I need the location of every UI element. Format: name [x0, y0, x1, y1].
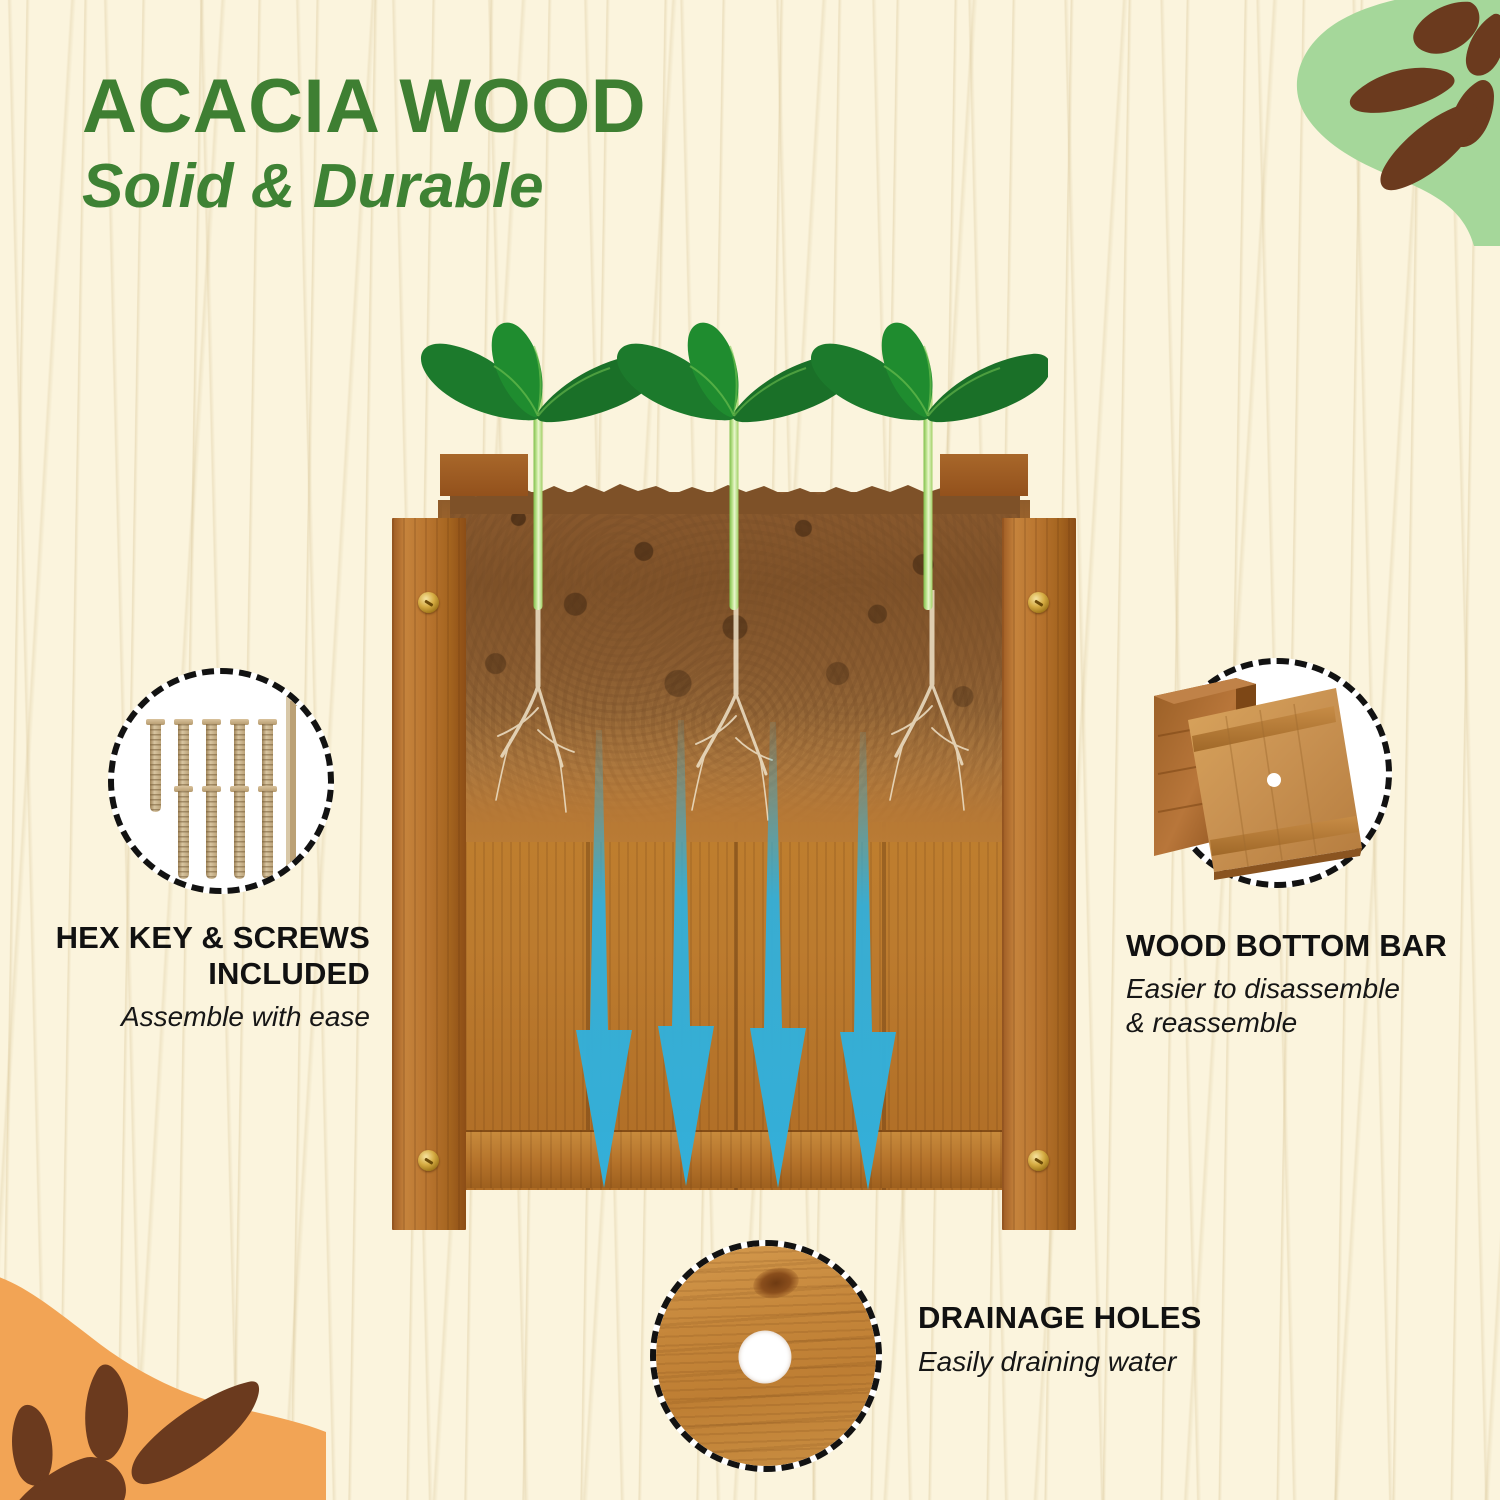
left-corner-post: [392, 518, 466, 1230]
feature-title-hex-key: HEX KEY & SCREWS INCLUDED: [20, 920, 370, 992]
drainage-hole: [738, 1331, 791, 1384]
feature-title-wood-bar: WOOD BOTTOM BAR: [1126, 928, 1486, 964]
feature-title-drainage: DRAINAGE HOLES: [918, 1300, 1338, 1336]
feature-subtitle-drainage: Easily draining water: [918, 1345, 1338, 1379]
page-subtitle: Solid & Durable: [82, 154, 646, 219]
feature-subtitle-hex-key: Assemble with ease: [20, 1000, 370, 1034]
feature-subtitle-wood-bar: Easier to disassemble & reassemble: [1126, 972, 1496, 1039]
drainage-hole-wood-disc-icon: [656, 1246, 876, 1466]
leaf-silhouette-group: [1350, 2, 1500, 190]
leaf-silhouette-group: [12, 1365, 259, 1500]
infographic-canvas: ACACIA WOOD Solid & Durable: [0, 0, 1500, 1500]
wood-panel-graphic: [1130, 660, 1390, 890]
right-corner-post: [1002, 518, 1076, 1230]
seedling-3: [808, 320, 1048, 610]
plant-roots: [450, 590, 1020, 850]
wood-bottom-bar: [450, 1130, 1018, 1188]
screw-left-bottom: [418, 1150, 439, 1171]
screws-and-hex-key-icon: [114, 674, 328, 888]
page-title: ACACIA WOOD: [82, 68, 646, 146]
badge-drainage-holes: [650, 1240, 882, 1472]
green-leaf-corner-decoration: [1174, 0, 1500, 246]
headline-block: ACACIA WOOD Solid & Durable: [82, 68, 646, 219]
orange-leaf-corner-decoration: [0, 1204, 326, 1500]
plant-leaves: [808, 320, 1048, 480]
hex-key-icon: [280, 692, 328, 882]
product-planter-illustration: [378, 440, 1090, 1230]
badge-hex-key-screws: [108, 668, 334, 894]
screw-right-bottom: [1028, 1150, 1049, 1171]
